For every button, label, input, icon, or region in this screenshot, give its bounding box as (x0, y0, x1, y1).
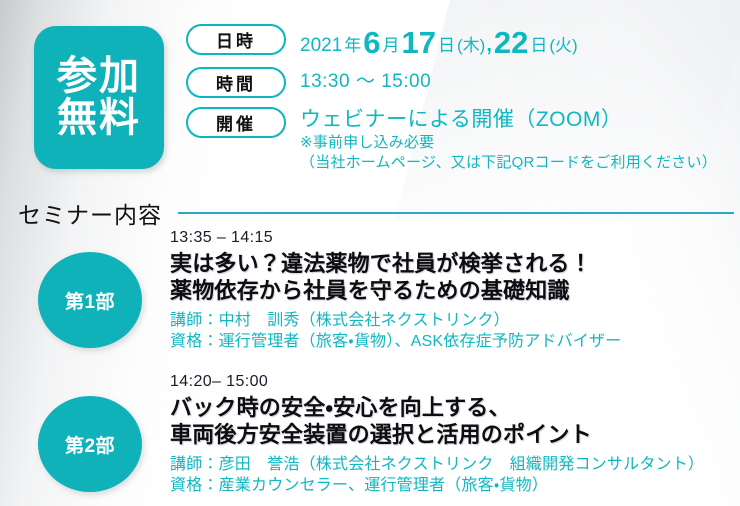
venue-note-registration: ※事前申し込み必要 (300, 133, 717, 153)
date-day-first-dow: (木) (457, 36, 485, 55)
venue-pill-label: 開催 (186, 107, 286, 138)
session-2-title-line2: 車両後方安全装置の選択と活用のポイント (170, 422, 736, 449)
date-day-second: 22 (494, 25, 528, 60)
venue-note-howto: （当社ホームページ、又は下記QRコードをご利用ください） (300, 153, 717, 173)
time-pill-label: 時間 (186, 67, 286, 98)
session-1-qualification: 資格：運行管理者（旅客・貨物）、ASK依存症予防アドバイザー (170, 331, 736, 352)
session-block-2: 第2部 14:20– 15:00 バック時の安全・安心を向上する、 車両後方安全… (0, 372, 740, 506)
date-day-first: 17 (402, 25, 436, 60)
date-month-unit: 月 (381, 36, 402, 55)
heading-divider (178, 212, 734, 214)
date-separator: , (485, 34, 494, 56)
info-row-time: 時間 13:30 〜 15:00 (186, 67, 740, 98)
session-1-title: 実は多い？違法薬物で社員が検挙される！ 薬物依存から社員を守るための基礎知識 (170, 251, 736, 305)
session-block-1: 第1部 13:35 – 14:15 実は多い？違法薬物で社員が検挙される！ 薬物… (0, 228, 740, 368)
session-1-title-line1: 実は多い？違法薬物で社員が検挙される！ (170, 251, 736, 278)
date-day-second-dow: (火) (549, 36, 577, 55)
event-info-block: 日時 2021年6月17日(木),22日(火) 時間 13:30 〜 15:00… (186, 24, 740, 182)
session-1-title-line2: 薬物依存から社員を守るための基礎知識 (170, 278, 736, 305)
session-2-title: バック時の安全・安心を向上する、 車両後方安全装置の選択と活用のポイント (170, 395, 736, 449)
session-2-meta: 講師：彦田 誉浩（株式会社ネクストリンク 組織開発コンサルタント） 資格：産業カ… (170, 454, 736, 496)
venue-value: ウェビナーによる開催（ZOOM） (300, 108, 717, 133)
session-2-body: 14:20– 15:00 バック時の安全・安心を向上する、 車両後方安全装置の選… (170, 372, 736, 496)
info-row-venue: 開催 ウェビナーによる開催（ZOOM） ※事前申し込み必要 （当社ホームページ、… (186, 107, 740, 173)
session-2-time: 14:20– 15:00 (170, 372, 736, 391)
date-year: 2021 (300, 35, 342, 56)
seminar-contents-heading: セミナー内容 (18, 196, 734, 230)
date-month: 6 (363, 25, 380, 60)
seminar-contents-label: セミナー内容 (18, 196, 162, 230)
session-1-badge: 第1部 (38, 252, 142, 348)
session-1-time: 13:35 – 14:15 (170, 228, 736, 247)
session-1-meta: 講師：中村 訓秀（株式会社ネクストリンク） 資格：運行管理者（旅客・貨物）、AS… (170, 310, 736, 352)
session-2-speaker: 講師：彦田 誉浩（株式会社ネクストリンク 組織開発コンサルタント） (170, 454, 736, 475)
date-day-second-unit: 日 (528, 36, 549, 55)
seminar-poster: 参加 無料 日時 2021年6月17日(木),22日(火) 時間 13:30 〜… (0, 0, 740, 506)
info-row-date: 日時 2021年6月17日(木),22日(火) (186, 24, 740, 58)
session-1-speaker: 講師：中村 訓秀（株式会社ネクストリンク） (170, 310, 736, 331)
free-badge-line1: 参加 (57, 56, 141, 98)
date-value: 2021年6月17日(木),22日(火) (300, 24, 578, 58)
free-participation-badge: 参加 無料 (34, 26, 164, 169)
free-badge-line2: 無料 (57, 98, 141, 140)
session-1-body: 13:35 – 14:15 実は多い？違法薬物で社員が検挙される！ 薬物依存から… (170, 228, 736, 352)
session-2-title-line1: バック時の安全・安心を向上する、 (170, 395, 736, 422)
date-day-first-unit: 日 (436, 36, 457, 55)
date-pill-label: 日時 (186, 24, 286, 55)
date-year-unit: 年 (342, 36, 363, 55)
venue-value-group: ウェビナーによる開催（ZOOM） ※事前申し込み必要 （当社ホームページ、又は下… (300, 107, 717, 173)
session-2-qualification: 資格：産業カウンセラー、運行管理者（旅客・貨物） (170, 475, 736, 496)
time-value: 13:30 〜 15:00 (300, 67, 431, 97)
session-2-badge: 第2部 (38, 396, 142, 492)
